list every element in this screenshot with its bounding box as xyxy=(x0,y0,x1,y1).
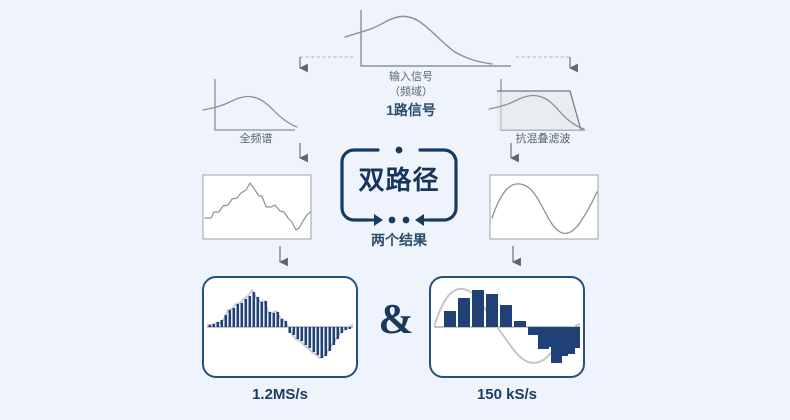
sine-waveform-box xyxy=(490,175,598,239)
high-rate-label: 1.2MS/s xyxy=(203,386,357,404)
anti-alias-filter-caption: 抗混叠滤波 xyxy=(487,130,599,146)
low-rate-sampling-panel-graphic xyxy=(430,277,588,377)
ampersand-operator: & xyxy=(368,292,424,348)
two-results-label: 两个结果 xyxy=(336,231,462,249)
input-signal-caption-line1: 输入信号 xyxy=(336,70,486,84)
dual-path-badge-label: 双路径 xyxy=(340,164,458,196)
input-signal-spectrum-graphic xyxy=(345,10,511,66)
low-rate-label: 150 kS/s xyxy=(430,386,584,404)
high-rate-sampling-panel-graphic xyxy=(203,277,357,377)
anti-alias-filter-chart-graphic xyxy=(489,79,585,130)
input-signal-caption-line2: （频域） xyxy=(336,85,486,99)
full-spectrum-caption: 全频谱 xyxy=(200,130,312,146)
dual-path-badge: 双路径 xyxy=(340,144,458,232)
noisy-waveform-box xyxy=(203,175,311,239)
input-signal-subtitle: 1路信号 xyxy=(336,101,486,119)
diagram-canvas: 输入信号 （频域） 1路信号 全频谱 抗混叠滤波 双路径 两个结果 & 1.2M… xyxy=(0,0,790,420)
full-spectrum-chart-graphic xyxy=(203,79,297,130)
